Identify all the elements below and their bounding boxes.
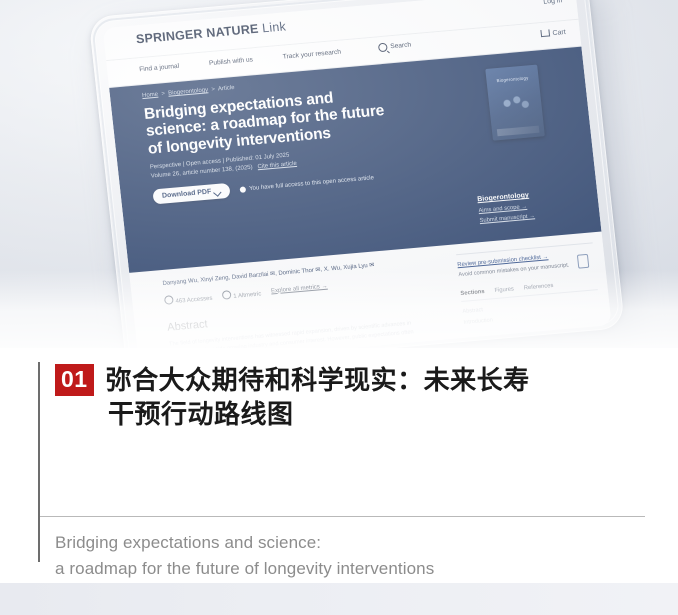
presubmission-box: Review pre-submission checklist → Avoid … bbox=[456, 242, 595, 279]
tablet-body: SPRINGER NATURE Link Log in Find a journ… bbox=[88, 0, 625, 360]
number-badge: 01 bbox=[55, 364, 94, 396]
springer-nature-logo[interactable]: SPRINGER NATURE Link bbox=[135, 19, 286, 46]
journal-cover-artwork bbox=[494, 88, 537, 117]
nav-publish-with-us[interactable]: Publish with us bbox=[209, 56, 254, 67]
slide-root: SPRINGER NATURE Link Log in Find a journ… bbox=[0, 0, 678, 615]
cart-link[interactable]: Cart bbox=[540, 28, 566, 38]
breadcrumb-journal[interactable]: Biogerontology bbox=[168, 87, 209, 96]
cite-this-article-link[interactable]: Cite this article bbox=[257, 161, 297, 170]
altmetric-value: 1 Altmetric bbox=[233, 291, 262, 299]
tab-sections[interactable]: Sections bbox=[460, 289, 485, 297]
nav-track-your-research[interactable]: Track your research bbox=[282, 49, 341, 61]
chinese-title-block: 01 弥合大众期待和科学现实：未来长寿 干预行动路线图 bbox=[55, 364, 645, 433]
english-subtitle-line-1: Bridging expectations and science: bbox=[55, 530, 655, 556]
journal-cover-footer bbox=[497, 126, 540, 137]
download-icon bbox=[213, 188, 221, 196]
tab-references[interactable]: References bbox=[524, 283, 554, 292]
explore-all-metrics-link[interactable]: Explore all metrics → bbox=[271, 283, 328, 294]
footer-strip bbox=[0, 583, 678, 615]
brand-strong: SPRINGER NATURE bbox=[135, 22, 259, 47]
breadcrumb-article: Article bbox=[218, 85, 235, 92]
journal-links: Biogerontology Aims and scope → Submit m… bbox=[477, 188, 572, 228]
search-button[interactable]: Search bbox=[378, 40, 412, 52]
check-icon bbox=[240, 186, 247, 192]
tablet-device: SPRINGER NATURE Link Log in Find a journ… bbox=[88, 0, 646, 360]
search-label: Search bbox=[390, 41, 412, 50]
login-link[interactable]: Log in bbox=[543, 0, 563, 6]
journal-cover-thumbnail[interactable]: Biogerontology bbox=[485, 65, 545, 141]
english-subtitle-line-2: a roadmap for the future of longevity in… bbox=[55, 556, 655, 582]
english-subtitle-block: Bridging expectations and science: a roa… bbox=[55, 530, 655, 583]
download-pdf-label: Download PDF bbox=[162, 189, 212, 200]
brand-light: Link bbox=[261, 19, 286, 35]
nav-find-a-journal[interactable]: Find a journal bbox=[139, 63, 180, 73]
chinese-title-line-2: 干预行动路线图 bbox=[108, 398, 645, 432]
metric-accesses: 463 Accesses bbox=[164, 291, 213, 305]
search-icon bbox=[378, 43, 388, 53]
cart-label: Cart bbox=[552, 29, 566, 37]
accesses-icon bbox=[164, 295, 174, 305]
tablet-photo: SPRINGER NATURE Link Log in Find a journ… bbox=[0, 0, 678, 360]
download-pdf-button[interactable]: Download PDF bbox=[152, 183, 231, 205]
breadcrumb-home[interactable]: Home bbox=[142, 92, 159, 99]
tablet-screen: SPRINGER NATURE Link Log in Find a journ… bbox=[103, 0, 612, 360]
journal-cover-title: Biogerontology bbox=[486, 74, 538, 84]
tab-figures[interactable]: Figures bbox=[494, 287, 514, 295]
chinese-title-line-1: 弥合大众期待和科学现实：未来长寿 bbox=[106, 364, 530, 398]
document-icon bbox=[577, 254, 589, 269]
altmetric-icon bbox=[222, 290, 232, 300]
caption-card: 01 弥合大众期待和科学现实：未来长寿 干预行动路线图 Bridging exp… bbox=[0, 348, 678, 583]
cart-icon bbox=[540, 29, 550, 37]
caption-divider bbox=[40, 516, 645, 517]
chinese-title-line-1-row: 01 弥合大众期待和科学现实：未来长寿 bbox=[55, 364, 645, 398]
left-accent-rail bbox=[38, 362, 40, 562]
access-note-text: You have full access to this open access… bbox=[249, 175, 374, 192]
metric-altmetric: 1 Altmetric bbox=[222, 287, 262, 300]
accesses-value: 463 Accesses bbox=[175, 295, 213, 304]
open-access-note: You have full access to this open access… bbox=[240, 175, 374, 193]
